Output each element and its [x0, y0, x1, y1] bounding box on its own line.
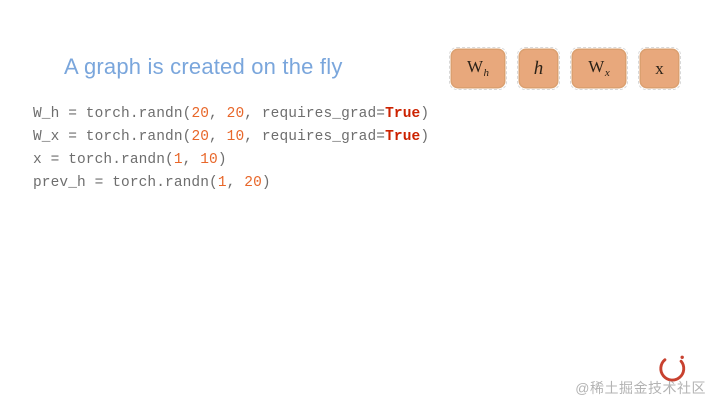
code-block: W_h = torch.randn(20, 20, requires_grad=… — [33, 103, 429, 195]
node-box-h[interactable]: h — [520, 50, 557, 87]
node-label: Wh — [467, 58, 489, 79]
code-token-plain: W_h = torch.randn( — [33, 106, 191, 122]
code-token-num: 20 — [227, 106, 245, 122]
code-line: prev_h = torch.randn(1, 20) — [33, 172, 429, 195]
code-token-plain: x = torch.randn( — [33, 152, 174, 168]
code-token-num: 1 — [174, 152, 183, 168]
node-label: h — [534, 59, 544, 78]
code-token-plain: ) — [218, 152, 227, 168]
node-label-base: W — [467, 57, 483, 76]
code-token-num: 10 — [227, 129, 245, 145]
code-token-plain: , — [209, 106, 227, 122]
code-token-plain: ) — [420, 129, 429, 145]
node-label-subscript: h — [484, 67, 490, 79]
tensor-node-row: WhhWxx — [452, 50, 694, 87]
code-token-num: 20 — [191, 129, 209, 145]
code-line: W_x = torch.randn(20, 10, requires_grad=… — [33, 126, 429, 149]
node-box-w-x[interactable]: Wx — [573, 50, 625, 87]
code-token-num: 20 — [191, 106, 209, 122]
code-token-plain: , requires_grad= — [244, 129, 385, 145]
node-label-base: W — [588, 57, 604, 76]
node-box-w-h[interactable]: Wh — [452, 50, 504, 87]
code-token-bool: True — [385, 129, 420, 145]
slide-canvas: A graph is created on the fly W_h = torc… — [0, 0, 718, 404]
code-token-plain: ) — [262, 175, 271, 191]
code-token-plain: prev_h = torch.randn( — [33, 175, 218, 191]
code-token-plain: , — [209, 129, 227, 145]
code-token-plain: ) — [420, 106, 429, 122]
node-label: Wx — [588, 58, 609, 79]
watermark-text: @稀土掘金技术社区 — [575, 378, 706, 398]
code-token-plain: , requires_grad= — [244, 106, 385, 122]
watermark: @稀土掘金技术社区 — [575, 350, 706, 398]
code-token-num: 10 — [200, 152, 218, 168]
code-line: W_h = torch.randn(20, 20, requires_grad=… — [33, 103, 429, 126]
code-token-num: 1 — [218, 175, 227, 191]
node-label-subscript: x — [605, 67, 610, 79]
node-label-base: h — [534, 58, 544, 79]
page-title: A graph is created on the fly — [64, 54, 343, 80]
code-line: x = torch.randn(1, 10) — [33, 149, 429, 172]
node-label-base: x — [655, 59, 664, 78]
code-token-bool: True — [385, 106, 420, 122]
code-token-num: 20 — [244, 175, 262, 191]
code-token-plain: , — [227, 175, 245, 191]
node-box-x[interactable]: x — [641, 50, 678, 87]
code-token-plain: , — [183, 152, 201, 168]
code-token-plain: W_x = torch.randn( — [33, 129, 191, 145]
node-label: x — [655, 60, 664, 77]
